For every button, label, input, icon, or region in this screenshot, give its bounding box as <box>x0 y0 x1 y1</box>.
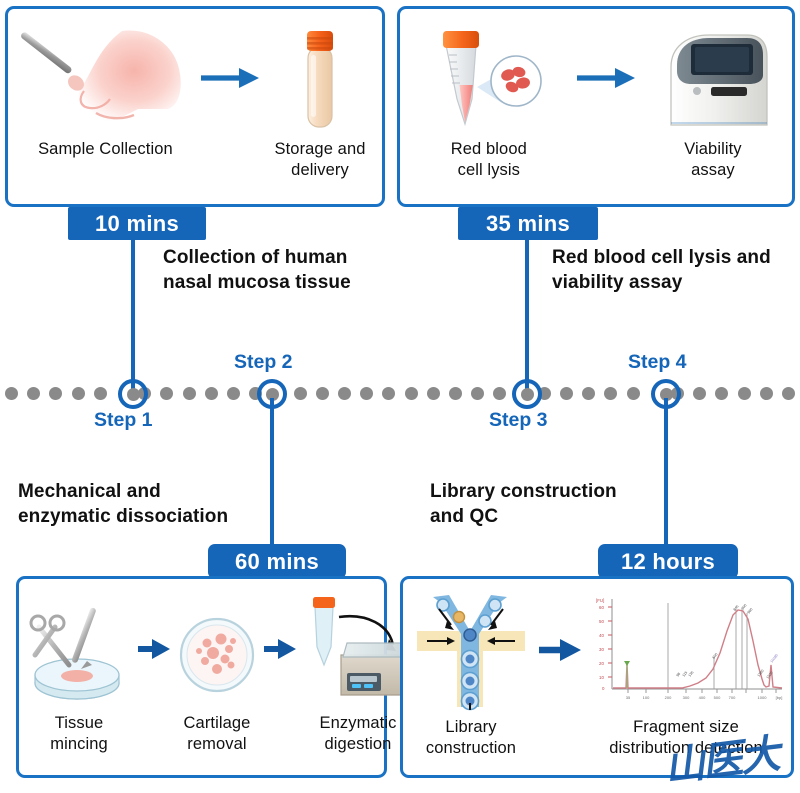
timeline-dot <box>227 387 240 400</box>
microfluidic-droplet-junction-icon <box>415 589 527 711</box>
svg-text:1380: 1380 <box>757 669 765 678</box>
timeline-dot <box>427 387 440 400</box>
svg-text:[FU]: [FU] <box>596 598 604 603</box>
timeline-dot <box>449 387 462 400</box>
cell-caption: Cartilage removal <box>184 713 251 755</box>
timeline-marker-step1[interactable] <box>118 379 148 409</box>
timeline-dot <box>316 387 329 400</box>
timeline-dot <box>183 387 196 400</box>
panel-dissociation: Tissue mincing <box>16 576 387 778</box>
svg-text:40: 40 <box>599 633 604 638</box>
timeline-dot <box>693 387 706 400</box>
cell-viability-assay: Viability assay <box>640 23 786 181</box>
svg-text:100: 100 <box>643 695 650 700</box>
timeline-dot <box>760 387 773 400</box>
svg-text:700: 700 <box>729 695 736 700</box>
section-title-rbc-lysis: Red blood cell lysis and viability assay <box>552 246 800 295</box>
flow-arrow-icon <box>197 23 264 133</box>
svg-text:400: 400 <box>699 695 706 700</box>
timeline-dot <box>738 387 751 400</box>
cell-caption: Library construction <box>426 717 516 759</box>
cell-storage-delivery: Storage and delivery <box>264 23 376 181</box>
svg-text:50: 50 <box>599 619 604 624</box>
timeline-dot <box>94 387 107 400</box>
cell-fragment-distribution: [FU] 6050 4030 2010 0 <box>583 589 789 759</box>
section-title-collection: Collection of human nasal mucosa tissue <box>163 246 423 295</box>
timeline-marker-step3[interactable] <box>512 379 542 409</box>
cell-caption: Tissue mincing <box>50 713 108 755</box>
timeline-dot <box>27 387 40 400</box>
svg-text:300: 300 <box>683 695 690 700</box>
svg-text:30: 30 <box>599 647 604 652</box>
connector-step3 <box>525 240 529 393</box>
timeline-dot <box>782 387 795 400</box>
timeline-dot <box>493 387 506 400</box>
cell-caption: Storage and delivery <box>275 139 366 181</box>
timeline-dot <box>604 387 617 400</box>
svg-text:35: 35 <box>626 695 631 700</box>
cell-counter-instrument-icon <box>651 23 775 133</box>
flow-arrow-icon <box>263 591 297 707</box>
svg-text:0: 0 <box>602 686 605 691</box>
cell-sample-collection: Sample Collection <box>14 23 197 160</box>
svg-text:10380: 10380 <box>770 653 779 663</box>
svg-text:960: 960 <box>747 607 754 614</box>
panel-library: Library construction <box>400 576 794 778</box>
timeline-dot <box>405 387 418 400</box>
svg-text:900: 900 <box>741 603 748 610</box>
timeline-dot <box>72 387 85 400</box>
svg-text:[bp]: [bp] <box>776 695 783 700</box>
svg-text:98: 98 <box>676 672 682 678</box>
connector-step1 <box>131 240 135 393</box>
timeline-dot <box>160 387 173 400</box>
panel-rbc-lysis: Red blood cell lysis <box>397 6 795 207</box>
specimen-tube-icon <box>297 23 343 133</box>
step-label-3: Step 3 <box>489 409 548 432</box>
cell-caption: Enzymatic digestion <box>319 713 396 755</box>
step-label-4: Step 4 <box>628 351 687 374</box>
timeline-dot <box>294 387 307 400</box>
cell-cartilage-removal: Cartilage removal <box>171 591 263 755</box>
electropherogram-trace-icon: [FU] 6050 4030 2010 0 <box>586 589 786 711</box>
timeline-dot <box>338 387 351 400</box>
svg-text:10: 10 <box>599 675 604 680</box>
svg-text:200: 200 <box>665 695 672 700</box>
timeline-dot <box>382 387 395 400</box>
cell-caption: Sample Collection <box>38 139 173 160</box>
connector-step2 <box>270 398 274 544</box>
timeline-dot <box>360 387 373 400</box>
duration-badge-dissociation: 60 mins <box>208 544 346 579</box>
svg-text:20: 20 <box>599 661 604 666</box>
cell-tissue-mincing: Tissue mincing <box>21 591 137 755</box>
cell-caption: Red blood cell lysis <box>451 139 527 181</box>
panel-collection: Sample Collection <box>5 6 385 207</box>
timeline-dot <box>582 387 595 400</box>
timeline-dot <box>49 387 62 400</box>
timeline-dot <box>627 387 640 400</box>
step-label-2: Step 2 <box>234 351 293 374</box>
step-label-1: Step 1 <box>94 409 153 432</box>
duration-badge-library: 12 hours <box>598 544 738 579</box>
cell-library-construction: Library construction <box>405 589 537 759</box>
timeline-dot <box>5 387 18 400</box>
timeline-dot <box>715 387 728 400</box>
flow-arrow-icon <box>537 589 583 711</box>
workflow-figure: Sample Collection <box>0 0 800 786</box>
flow-arrow-icon <box>137 591 171 707</box>
centrifuge-tube-blood-icon <box>424 23 554 133</box>
timeline-dot <box>471 387 484 400</box>
timeline-dot <box>205 387 218 400</box>
svg-text:135: 135 <box>688 670 695 677</box>
cell-caption: Fragment size distribution detection <box>609 717 763 759</box>
flow-arrow-icon <box>572 23 640 133</box>
cell-caption: Viability assay <box>684 139 741 181</box>
duration-badge-rbc-lysis: 35 mins <box>458 207 598 240</box>
connector-step4 <box>664 398 668 544</box>
cell-rbc-lysis: Red blood cell lysis <box>406 23 572 181</box>
svg-text:1000: 1000 <box>758 695 768 700</box>
svg-text:500: 500 <box>714 695 721 700</box>
timeline-dot <box>560 387 573 400</box>
petri-dish-cells-icon <box>171 591 263 707</box>
svg-text:60: 60 <box>599 605 604 610</box>
duration-badge-collection: 10 mins <box>68 207 206 240</box>
section-title-library: Library construction and QC <box>430 480 720 529</box>
nasal-swab-icon <box>18 23 193 133</box>
scissors-petri-dish-icon <box>21 591 137 707</box>
